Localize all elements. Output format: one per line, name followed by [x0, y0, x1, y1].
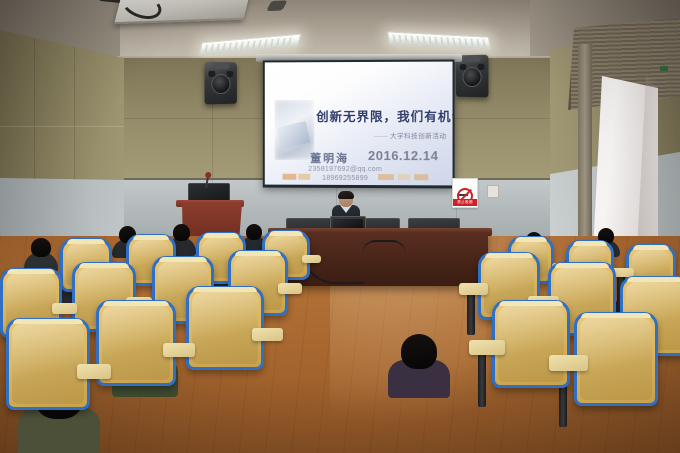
seat-top-edge: [103, 301, 169, 306]
seat-tablet-arm[interactable]: [163, 343, 195, 357]
seat-top-edge: [633, 245, 669, 250]
audience-head: [173, 224, 190, 241]
slide-title: 创新无界限，我们有机会: [316, 106, 448, 125]
seat-top-edge: [627, 277, 680, 282]
desk-cable: [362, 240, 406, 254]
speaker-woofer: [463, 67, 482, 87]
seat-top-edge: [203, 233, 239, 238]
seat-top-edge: [193, 287, 257, 292]
decor-block: [378, 174, 394, 180]
audience-head: [401, 334, 437, 369]
light-grill: [393, 35, 486, 47]
slide-surface: 创新无界限，我们有机会 大学科技创新活动 董明海 2016.12.14 2358…: [265, 62, 453, 186]
seat-top-edge: [499, 301, 563, 306]
seat-top-edge: [269, 231, 303, 236]
slide-image: [275, 100, 315, 160]
seat-tablet-arm[interactable]: [302, 255, 321, 263]
wall-seam: [0, 126, 124, 127]
slide-email: 2358197692@qq.com: [308, 166, 382, 173]
seat-tablet-arm[interactable]: [52, 303, 77, 314]
seat-tablet-arm[interactable]: [549, 355, 588, 371]
seat-top-edge: [555, 263, 609, 268]
no-smoking-sign: 禁止吸烟: [452, 178, 478, 208]
seat-top-edge: [159, 257, 207, 262]
slide-presenter-name: 董明海: [310, 150, 349, 166]
decor-block: [283, 174, 297, 180]
seat-top-edge: [13, 319, 83, 324]
seat-top-edge: [133, 235, 169, 240]
seat-top-edge: [79, 263, 129, 268]
seat-tablet-arm[interactable]: [77, 364, 111, 379]
wall-control-plate: [487, 185, 499, 198]
audience-member: [388, 334, 450, 396]
seat-tablet-arm[interactable]: [278, 283, 302, 294]
seat-tablet-arm[interactable]: [459, 283, 488, 295]
seat-top-edge: [7, 269, 55, 274]
loudspeaker-icon: [205, 62, 237, 105]
presenter-hair: [338, 191, 354, 199]
audience-head: [246, 224, 262, 240]
seat-top-edge: [581, 313, 651, 318]
seat-top-edge: [235, 251, 281, 256]
slide-subtitle: 大学科技创新活动: [374, 130, 446, 140]
audience-head: [31, 238, 51, 257]
decor-block: [298, 174, 310, 180]
audience-member: [24, 238, 58, 272]
seat-tablet-arm[interactable]: [469, 340, 505, 355]
seat-top-edge: [67, 239, 105, 244]
speaker-handle: [212, 63, 229, 69]
seat-top-edge: [573, 241, 607, 246]
lecture-hall-scene: 创新无界限，我们有机会 大学科技创新活动 董明海 2016.12.14 2358…: [0, 0, 680, 453]
decor-block: [414, 174, 428, 180]
projection-screen: 创新无界限，我们有机会 大学科技创新活动 董明海 2016.12.14 2358…: [263, 60, 455, 189]
seat-tablet-arm[interactable]: [252, 328, 283, 341]
no-smoking-label: 禁止吸烟: [453, 199, 477, 206]
speaker-handle: [464, 56, 481, 62]
slide-decor-blocks: [283, 174, 441, 183]
exit-indicator-icon: [660, 66, 668, 71]
speaker-woofer: [211, 74, 230, 94]
seat-top-edge: [515, 237, 547, 242]
slide-date: 2016.12.14: [368, 148, 438, 163]
seat-top-edge: [485, 253, 533, 258]
decor-block: [398, 174, 410, 180]
